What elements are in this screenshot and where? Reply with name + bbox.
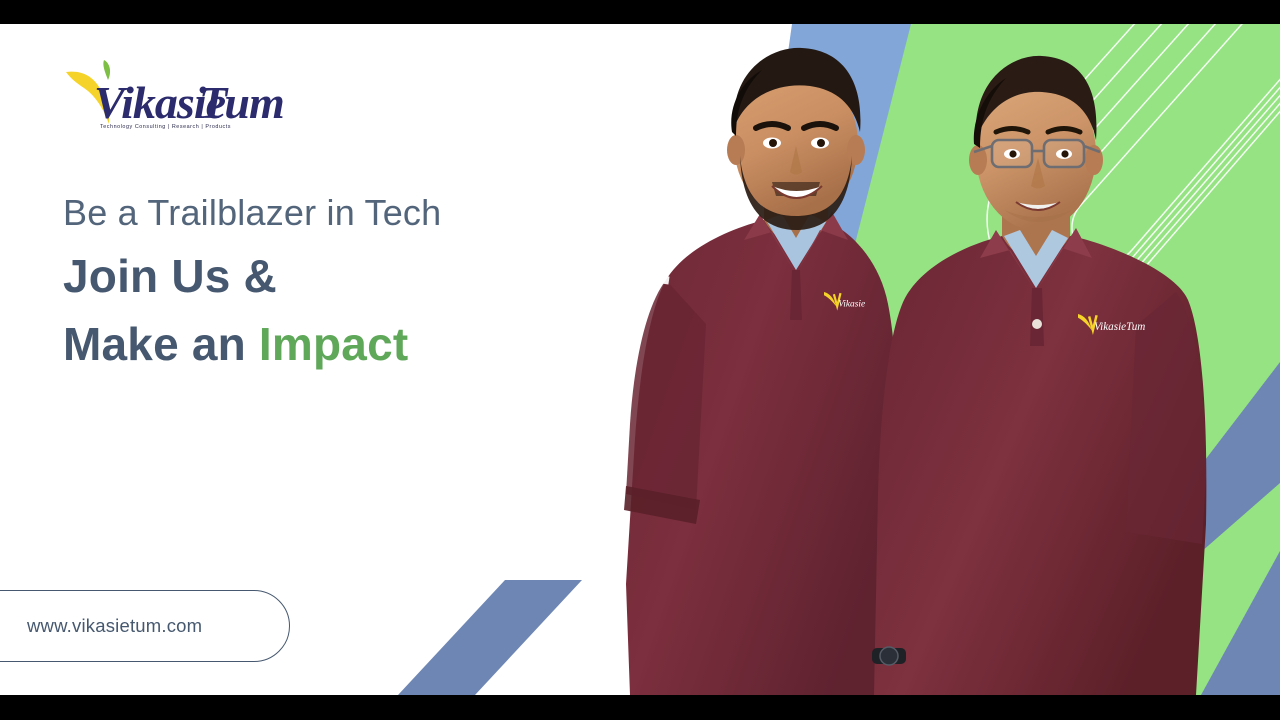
wristwatch [872, 647, 906, 665]
person-left: Vikasie [624, 48, 899, 695]
svg-text:Tum: Tum [199, 77, 284, 128]
headline-line-3-prefix: Make an [63, 318, 259, 370]
letterbox-bar-bottom [0, 695, 1280, 720]
svg-text:Vikasie: Vikasie [838, 299, 865, 309]
person-right: VikasieTum [874, 56, 1206, 695]
headline-block: Be a Trailblazer in Tech Join Us & Make … [63, 192, 663, 375]
poster-stage: Vikasie [0, 0, 1280, 720]
poster-canvas: Vikasie [0, 24, 1280, 695]
team-photo: Vikasie [596, 24, 1256, 695]
brand-tagline: Technology Consulting | Research | Produ… [100, 124, 290, 130]
headline-line-1: Be a Trailblazer in Tech [63, 192, 663, 234]
website-url-label: www.vikasietum.com [27, 615, 202, 637]
svg-text:VikasieTum: VikasieTum [1094, 321, 1145, 333]
headline-accent-word: Impact [259, 318, 408, 370]
brand-logo[interactable]: Vikasie Tum Technology Consulting | Rese… [64, 52, 294, 138]
headline-line-2: Join Us & [63, 247, 663, 307]
letterbox-bar-top [0, 0, 1280, 24]
website-url-button[interactable]: www.vikasietum.com [0, 590, 290, 662]
headline-line-3: Make an Impact [63, 315, 663, 375]
